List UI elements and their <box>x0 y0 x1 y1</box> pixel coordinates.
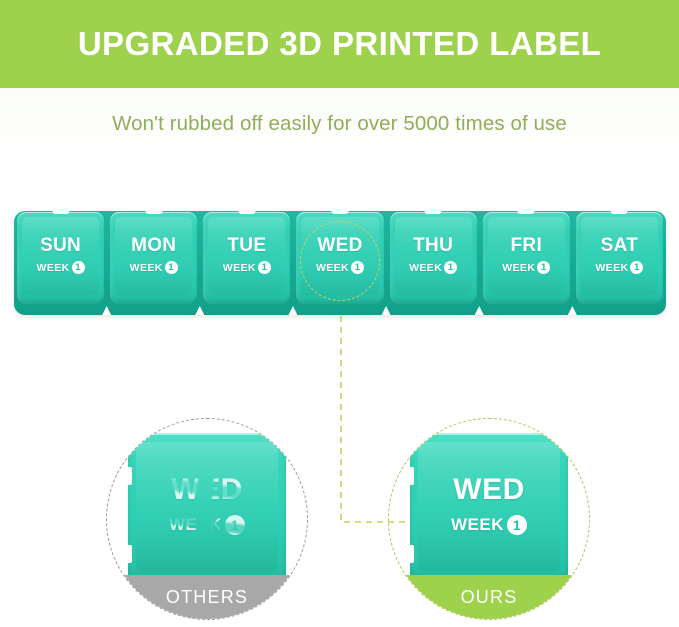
week-text: WEEK <box>316 262 349 274</box>
week-text: WEEK <box>409 262 442 274</box>
side-tab-icon <box>124 545 132 563</box>
lid-tab-notch-icon <box>425 207 442 214</box>
compartment-lid <box>17 212 104 304</box>
others-week-indicator: WEEK 1 <box>107 515 307 535</box>
lid-tab-notch-icon <box>331 207 348 214</box>
lid-tab-notch-icon <box>238 207 255 214</box>
day-cell-sat[interactable]: SAT WEEK 1 <box>573 207 666 315</box>
week-indicator: WEEK 1 <box>387 261 480 274</box>
others-circle-frame: WED WEEK 1 OTHERS <box>106 418 308 620</box>
ours-day-label: WED <box>389 473 589 507</box>
day-cell-fri[interactable]: FRI WEEK 1 <box>480 207 573 315</box>
week-indicator: WEEK 1 <box>480 261 573 274</box>
day-cell-tue[interactable]: TUE WEEK 1 <box>200 207 293 315</box>
ours-caption-bar: OURS <box>389 575 589 619</box>
day-cell-sun[interactable]: SUN WEEK 1 <box>14 207 107 315</box>
header-band: UPGRADED 3D PRINTED LABEL <box>0 0 679 88</box>
day-cell-mon[interactable]: MON WEEK 1 <box>107 207 200 315</box>
others-day-label: WED <box>107 473 307 507</box>
week-indicator: WEEK 1 <box>14 261 107 274</box>
compartment-lid <box>296 212 383 304</box>
ours-caption-text: OURS <box>461 587 518 608</box>
subtitle-zone: Won't rubbed off easily for over 5000 ti… <box>0 88 679 160</box>
week-indicator: WEEK 1 <box>573 261 666 274</box>
day-label: MON <box>107 235 200 257</box>
day-label: WED <box>293 235 386 257</box>
others-lid <box>128 433 286 585</box>
week-number-badge: 1 <box>72 261 85 274</box>
day-label: SAT <box>573 235 666 257</box>
week-number-badge: 1 <box>351 261 364 274</box>
compartment-lid <box>576 212 663 304</box>
others-caption-text: OTHERS <box>166 587 248 608</box>
compartment-lid <box>203 212 290 304</box>
lid-tab-notch-icon <box>611 207 628 214</box>
comparison-panel-others: WED WEEK 1 OTHERS <box>106 418 306 618</box>
week-text: WEEK <box>223 262 256 274</box>
week-text: WEEK <box>37 262 70 274</box>
week-number-badge: 1 <box>630 261 643 274</box>
week-number-badge: 1 <box>537 261 550 274</box>
week-text: WEEK <box>130 262 163 274</box>
week-text: WEEK <box>595 262 628 274</box>
day-label: FRI <box>480 235 573 257</box>
others-week-text: WEEK <box>169 515 222 535</box>
week-number-badge: 1 <box>258 261 271 274</box>
others-week-number-badge: 1 <box>225 515 245 535</box>
week-indicator: WEEK 1 <box>200 261 293 274</box>
week-number-badge: 1 <box>444 261 457 274</box>
page-title: UPGRADED 3D PRINTED LABEL <box>78 25 601 63</box>
others-caption-bar: OTHERS <box>107 575 307 619</box>
day-label: TUE <box>200 235 293 257</box>
week-number-badge: 1 <box>165 261 178 274</box>
ours-week-text: WEEK <box>451 515 504 535</box>
day-cell-wed[interactable]: WED WEEK 1 <box>293 207 386 315</box>
lid-tab-notch-icon <box>145 207 162 214</box>
week-indicator: WEEK 1 <box>293 261 386 274</box>
day-cell-thu[interactable]: THU WEEK 1 <box>387 207 480 315</box>
subtitle-text: Won't rubbed off easily for over 5000 ti… <box>112 112 567 136</box>
day-label: SUN <box>14 235 107 257</box>
lid-tab-notch-icon <box>52 207 69 214</box>
comparison-panel-ours: WED WEEK 1 OURS <box>388 418 588 618</box>
ours-week-number-badge: 1 <box>507 515 527 535</box>
ours-lid <box>410 433 568 585</box>
ours-week-indicator: WEEK 1 <box>389 515 589 535</box>
side-tab-icon <box>406 545 414 563</box>
week-indicator: WEEK 1 <box>107 261 200 274</box>
compartment-lid <box>390 212 477 304</box>
day-label: THU <box>387 235 480 257</box>
pill-organizer: SUN WEEK 1 MON WEEK 1 TUE WEEK 1 <box>14 207 666 315</box>
lid-tab-notch-icon <box>518 207 535 214</box>
compartment-lid <box>110 212 197 304</box>
ours-circle-frame: WED WEEK 1 OURS <box>388 418 590 620</box>
compartment-lid <box>483 212 570 304</box>
organizer-cells: SUN WEEK 1 MON WEEK 1 TUE WEEK 1 <box>14 207 666 315</box>
week-text: WEEK <box>502 262 535 274</box>
